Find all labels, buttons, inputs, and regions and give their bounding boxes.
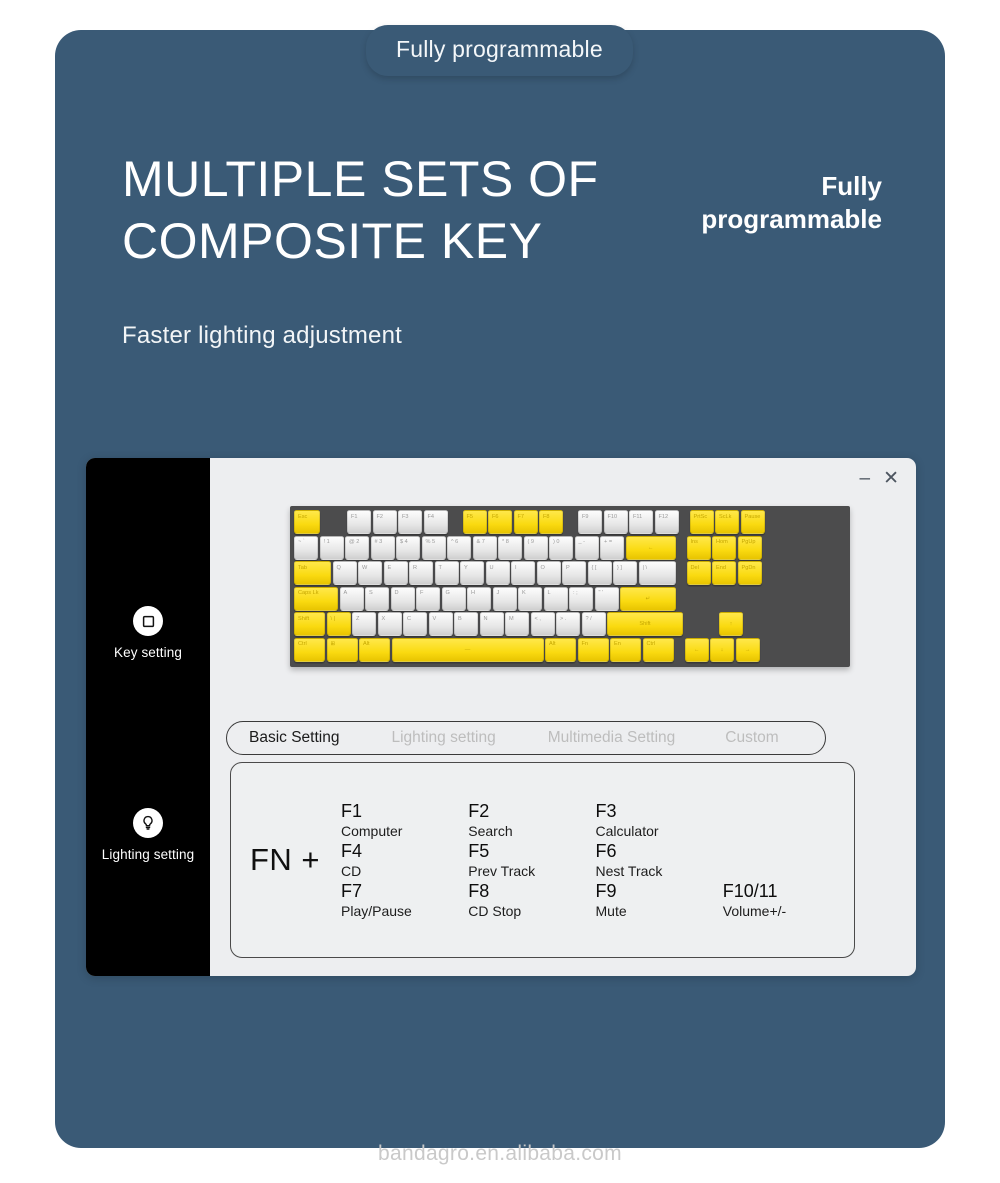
- fn-shortcut-cell: F3Calculator: [594, 800, 721, 840]
- keycap[interactable]: > .: [556, 612, 580, 636]
- fn-shortcut-cell-empty: [721, 840, 848, 880]
- keyboard-row: Caps LkASDFGHJKL: ;" '↵: [294, 587, 846, 611]
- keycap[interactable]: D: [391, 587, 415, 611]
- keyboard-row: Ctrl⊞Alt—AltFnEnCtrl←↓→: [294, 638, 846, 662]
- keyboard-spacer: [745, 612, 770, 636]
- keycap[interactable]: ~ `: [294, 536, 318, 560]
- keycap[interactable]: B: [454, 612, 478, 636]
- keycap[interactable]: ↑: [719, 612, 743, 636]
- keycap[interactable]: Ctrl: [294, 638, 325, 662]
- keycap[interactable]: —: [392, 638, 544, 662]
- keycap[interactable]: ^ 6: [447, 536, 471, 560]
- keycap[interactable]: ( 9: [524, 536, 548, 560]
- keycap[interactable]: # 3: [371, 536, 395, 560]
- fn-shortcut-key: F5: [468, 840, 593, 862]
- keycap[interactable]: PrtSc: [690, 510, 714, 534]
- keycap[interactable]: + =: [600, 536, 624, 560]
- keycap[interactable]: J: [493, 587, 517, 611]
- keycap[interactable]: End: [712, 561, 736, 585]
- corner-note: Fully programmable: [602, 170, 882, 236]
- headline-line-2: COMPOSITE KEY: [122, 210, 599, 272]
- keycap[interactable]: U: [486, 561, 510, 585]
- fn-shortcut-key: F6: [596, 840, 721, 862]
- fn-shortcut-key: F3: [596, 800, 721, 822]
- corner-note-line-1: Fully: [602, 170, 882, 203]
- fully-programmable-badge: Fully programmable: [366, 25, 633, 76]
- keyboard-preview: EscF1F2F3F4F5F6F7F8F9F10F11F12PrtScScLkP…: [290, 506, 850, 667]
- keycap[interactable]: Del: [687, 561, 711, 585]
- keycap[interactable]: : ;: [569, 587, 593, 611]
- keyboard-spacer: [677, 536, 685, 560]
- keycap[interactable]: F1: [347, 510, 371, 534]
- fn-shortcut-cell: F8CD Stop: [466, 880, 593, 920]
- keyboard-spacer: [675, 638, 683, 662]
- lightbulb-icon: [133, 808, 163, 838]
- keycap[interactable]: PgDn: [738, 561, 762, 585]
- tab-basic-setting[interactable]: Basic Setting: [249, 729, 339, 747]
- keycap[interactable]: →: [736, 638, 760, 662]
- sidebar-item-lighting-setting[interactable]: Lighting setting: [86, 808, 210, 862]
- keycap[interactable]: A: [340, 587, 364, 611]
- keycap[interactable]: P: [562, 561, 586, 585]
- tab-lighting-setting[interactable]: Lighting setting: [391, 729, 495, 747]
- keyboard-spacer: [687, 587, 761, 611]
- keycap[interactable]: G: [442, 587, 466, 611]
- keycap[interactable]: Esc: [294, 510, 320, 534]
- close-icon[interactable]: ✕: [883, 469, 899, 488]
- keycap[interactable]: Z: [352, 612, 376, 636]
- keycap[interactable]: ? /: [582, 612, 606, 636]
- keyboard-row: EscF1F2F3F4F5F6F7F8F9F10F11F12PrtScScLkP…: [294, 510, 846, 534]
- keycap[interactable]: Tab: [294, 561, 331, 585]
- fn-shortcut-cell: F6Nest Track: [594, 840, 721, 880]
- keyboard-spacer: [685, 612, 718, 636]
- keycap[interactable]: Y: [460, 561, 484, 585]
- keycap[interactable]: F11: [629, 510, 653, 534]
- keycap[interactable]: _ -: [575, 536, 599, 560]
- keycap[interactable]: F: [416, 587, 440, 611]
- keyboard-row: TabQWERTYUIOP{ [} ]| \DelEndPgDn: [294, 561, 846, 585]
- keycap[interactable]: S: [365, 587, 389, 611]
- sidebar-item-key-setting-label: Key setting: [86, 645, 210, 660]
- fn-shortcut-key: F7: [341, 880, 466, 902]
- sidebar: Key setting Lighting setting: [86, 458, 210, 976]
- minimize-icon[interactable]: –: [860, 469, 871, 488]
- settings-tab-bar: Basic Setting Lighting setting Multimedi…: [226, 721, 826, 755]
- keycap[interactable]: Hom: [712, 536, 736, 560]
- keyboard-spacer: [565, 510, 577, 534]
- keycap[interactable]: Ctrl: [643, 638, 674, 662]
- tab-multimedia-setting[interactable]: Multimedia Setting: [548, 729, 676, 747]
- fn-modifier-label: FN +: [231, 842, 339, 878]
- keycap[interactable]: X: [378, 612, 402, 636]
- fn-shortcut-cell: F5Prev Track: [466, 840, 593, 880]
- keycap[interactable]: ) 0: [549, 536, 573, 560]
- keycap[interactable]: F6: [488, 510, 512, 534]
- page-title: MULTIPLE SETS OF COMPOSITE KEY: [122, 148, 599, 272]
- keycap[interactable]: Fn: [578, 638, 609, 662]
- keycap[interactable]: Ins: [687, 536, 711, 560]
- keycap[interactable]: F9: [578, 510, 602, 534]
- keycap[interactable]: $ 4: [396, 536, 420, 560]
- sidebar-item-lighting-setting-label: Lighting setting: [86, 847, 210, 862]
- keycap[interactable]: Q: [333, 561, 357, 585]
- fn-shortcut-action: CD Stop: [468, 902, 593, 920]
- sidebar-item-key-setting[interactable]: Key setting: [86, 606, 210, 660]
- keycap[interactable]: % 5: [422, 536, 446, 560]
- keycap[interactable]: F10: [604, 510, 628, 534]
- keycap[interactable]: Alt: [545, 638, 576, 662]
- keycap[interactable]: T: [435, 561, 459, 585]
- fn-shortcut-grid: F1ComputerF2SearchF3CalculatorF4CDF5Prev…: [339, 786, 854, 934]
- keycap[interactable]: ←: [626, 536, 676, 560]
- window-controls: – ✕: [860, 469, 900, 488]
- key-square-icon: [133, 606, 163, 636]
- fn-shortcut-action: Nest Track: [596, 862, 721, 880]
- keycap[interactable]: * 8: [498, 536, 522, 560]
- fn-shortcut-cell: F10/11Volume+/-: [721, 880, 848, 920]
- keyboard-spacer: [677, 561, 685, 585]
- keycap[interactable]: E: [384, 561, 408, 585]
- keycap[interactable]: } ]: [613, 561, 637, 585]
- keycap[interactable]: Caps Lk: [294, 587, 338, 611]
- keyboard-spacer: [449, 510, 461, 534]
- keycap[interactable]: N: [480, 612, 504, 636]
- keycap[interactable]: H: [467, 587, 491, 611]
- keycap[interactable]: En: [610, 638, 641, 662]
- keycap[interactable]: L: [544, 587, 568, 611]
- keycap[interactable]: @ 2: [345, 536, 369, 560]
- keycap[interactable]: F2: [373, 510, 397, 534]
- fn-shortcut-key: F10/11: [723, 880, 848, 902]
- keycap[interactable]: \ |: [327, 612, 351, 636]
- fn-shortcut-action: Prev Track: [468, 862, 593, 880]
- fn-shortcut-cell: F7Play/Pause: [339, 880, 466, 920]
- app-window: Key setting Lighting setting – ✕ EscF1F2…: [86, 458, 916, 976]
- keyboard-row: Shift\ |ZXCVBNM< ,> .? /Shift↑: [294, 612, 846, 636]
- fn-shortcut-cell: F2Search: [466, 800, 593, 840]
- keycap[interactable]: ⊞: [327, 638, 358, 662]
- fn-shortcut-cell: F1Computer: [339, 800, 466, 840]
- keycap[interactable]: ↵: [620, 587, 676, 611]
- keyboard-spacer: [680, 510, 688, 534]
- keycap[interactable]: ScLk: [715, 510, 739, 534]
- fn-shortcut-panel: FN + F1ComputerF2SearchF3CalculatorF4CDF…: [230, 762, 855, 958]
- keycap[interactable]: | \: [639, 561, 676, 585]
- fn-shortcut-key: F9: [596, 880, 721, 902]
- fn-shortcut-action: Calculator: [596, 822, 721, 840]
- fn-shortcut-action: Volume+/-: [723, 902, 848, 920]
- fn-shortcut-cell: F9Mute: [594, 880, 721, 920]
- keyboard-spacer: [678, 587, 686, 611]
- keycap[interactable]: { [: [588, 561, 612, 585]
- keycap[interactable]: Shift: [607, 612, 683, 636]
- fn-shortcut-key: F2: [468, 800, 593, 822]
- keycap[interactable]: PgUp: [738, 536, 762, 560]
- keycap[interactable]: F12: [655, 510, 679, 534]
- keyboard-spacer: [322, 510, 346, 534]
- keycap[interactable]: I: [511, 561, 535, 585]
- keycap[interactable]: ←: [685, 638, 709, 662]
- tab-custom[interactable]: Custom: [725, 729, 778, 747]
- keycap[interactable]: F4: [424, 510, 448, 534]
- watermark: bandagro.en.alibaba.com: [0, 1142, 1000, 1166]
- keycap[interactable]: F3: [398, 510, 422, 534]
- keycap[interactable]: F8: [539, 510, 563, 534]
- keycap[interactable]: Shift: [294, 612, 325, 636]
- keycap[interactable]: ! 1: [320, 536, 344, 560]
- keycap[interactable]: R: [409, 561, 433, 585]
- fn-shortcut-action: Play/Pause: [341, 902, 466, 920]
- keycap[interactable]: O: [537, 561, 561, 585]
- keycap[interactable]: & 7: [473, 536, 497, 560]
- keyboard-graphic[interactable]: EscF1F2F3F4F5F6F7F8F9F10F11F12PrtScScLkP…: [290, 506, 850, 667]
- keycap[interactable]: M: [505, 612, 529, 636]
- fn-shortcut-cell: F4CD: [339, 840, 466, 880]
- fn-shortcut-key: F4: [341, 840, 466, 862]
- keycap[interactable]: F5: [463, 510, 487, 534]
- keycap[interactable]: V: [429, 612, 453, 636]
- subheading: Faster lighting adjustment: [122, 322, 402, 350]
- fn-shortcut-action: CD: [341, 862, 466, 880]
- keyboard-row: ~ `! 1@ 2# 3$ 4% 5^ 6& 7* 8( 9) 0_ -+ =←…: [294, 536, 846, 560]
- keycap[interactable]: < ,: [531, 612, 555, 636]
- fn-shortcut-cell-empty: [721, 800, 848, 840]
- corner-note-line-2: programmable: [602, 203, 882, 236]
- fn-shortcut-key: F1: [341, 800, 466, 822]
- keycap[interactable]: " ': [595, 587, 619, 611]
- fn-shortcut-key: F8: [468, 880, 593, 902]
- fn-shortcut-action: Computer: [341, 822, 466, 840]
- keycap[interactable]: Pause: [741, 510, 765, 534]
- keycap[interactable]: F7: [514, 510, 538, 534]
- keycap[interactable]: Alt: [359, 638, 390, 662]
- fn-shortcut-action: Mute: [596, 902, 721, 920]
- keycap[interactable]: W: [358, 561, 382, 585]
- fn-shortcut-action: Search: [468, 822, 593, 840]
- keycap[interactable]: ↓: [710, 638, 734, 662]
- headline-line-1: MULTIPLE SETS OF: [122, 148, 599, 210]
- keycap[interactable]: C: [403, 612, 427, 636]
- keycap[interactable]: K: [518, 587, 542, 611]
